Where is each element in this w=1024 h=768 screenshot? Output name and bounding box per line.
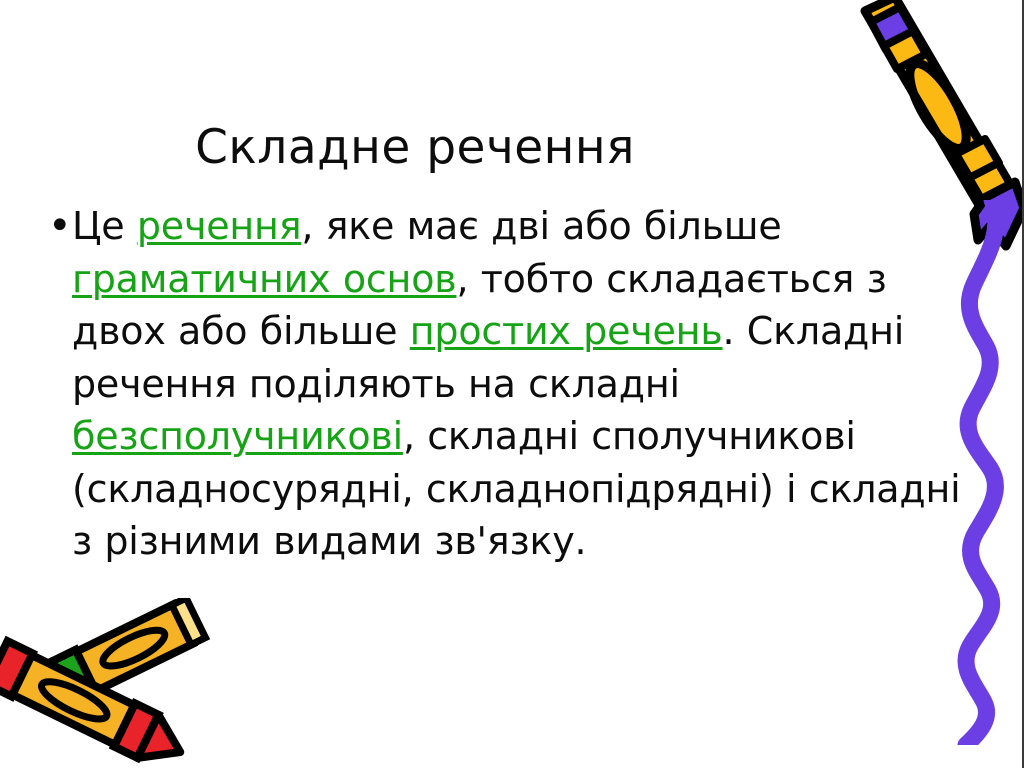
list-item: • Це речення, яке має дві або більше гра… (42, 200, 962, 568)
bullet-marker: • (42, 200, 72, 252)
text-segment: Це (72, 204, 137, 248)
link-hramatychnykh-osnov[interactable]: граматичних основ (72, 257, 456, 301)
slide-bottom-mask (0, 628, 1022, 768)
link-prostykh-rechen[interactable]: простих речень (410, 309, 723, 353)
body-paragraph: Це речення, яке має дві або більше грама… (72, 200, 962, 568)
body-content: • Це речення, яке має дві або більше гра… (42, 200, 962, 568)
presentation-slide: Складне речення • Це речення, яке має дв… (0, 0, 1024, 768)
crayons-bottom-left-icon (0, 598, 229, 768)
text-segment: , яке має дві або більше (301, 204, 781, 248)
link-rechennya[interactable]: речення (137, 204, 301, 248)
link-bezspoluchnykovi[interactable]: безсполучникові (72, 414, 403, 458)
page-title: Складне речення (0, 122, 830, 174)
